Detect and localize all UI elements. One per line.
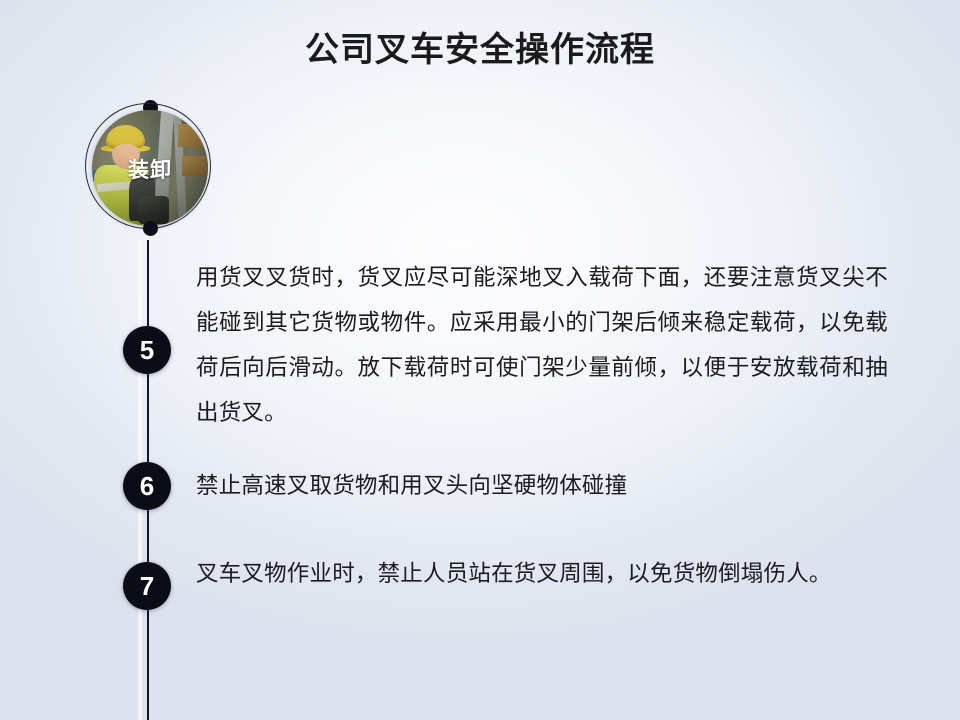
step-badge-6: 6: [123, 462, 171, 510]
step-badge-7: 7: [123, 562, 171, 610]
slide-canvas: 公司叉车安全操作流程 装卸: [0, 0, 960, 720]
step-text-7: 叉车叉物作业时，禁止人员站在货叉周围，以免货物倒塌伤人。: [196, 551, 888, 596]
page-title: 公司叉车安全操作流程: [0, 22, 960, 71]
node-dot-bottom-icon: [143, 221, 158, 236]
step-badge-5: 5: [123, 326, 171, 374]
timeline-photo-node[interactable]: 装卸: [90, 108, 210, 228]
step-text-6: 禁止高速叉取货物和用叉头向坚硬物体碰撞: [196, 463, 888, 508]
photo-node-label: 装卸: [90, 154, 210, 184]
step-text-5: 用货叉叉货时，货叉应尽可能深地叉入载荷下面，还要注意货叉尖不能碰到其它货物或物件…: [196, 255, 888, 435]
